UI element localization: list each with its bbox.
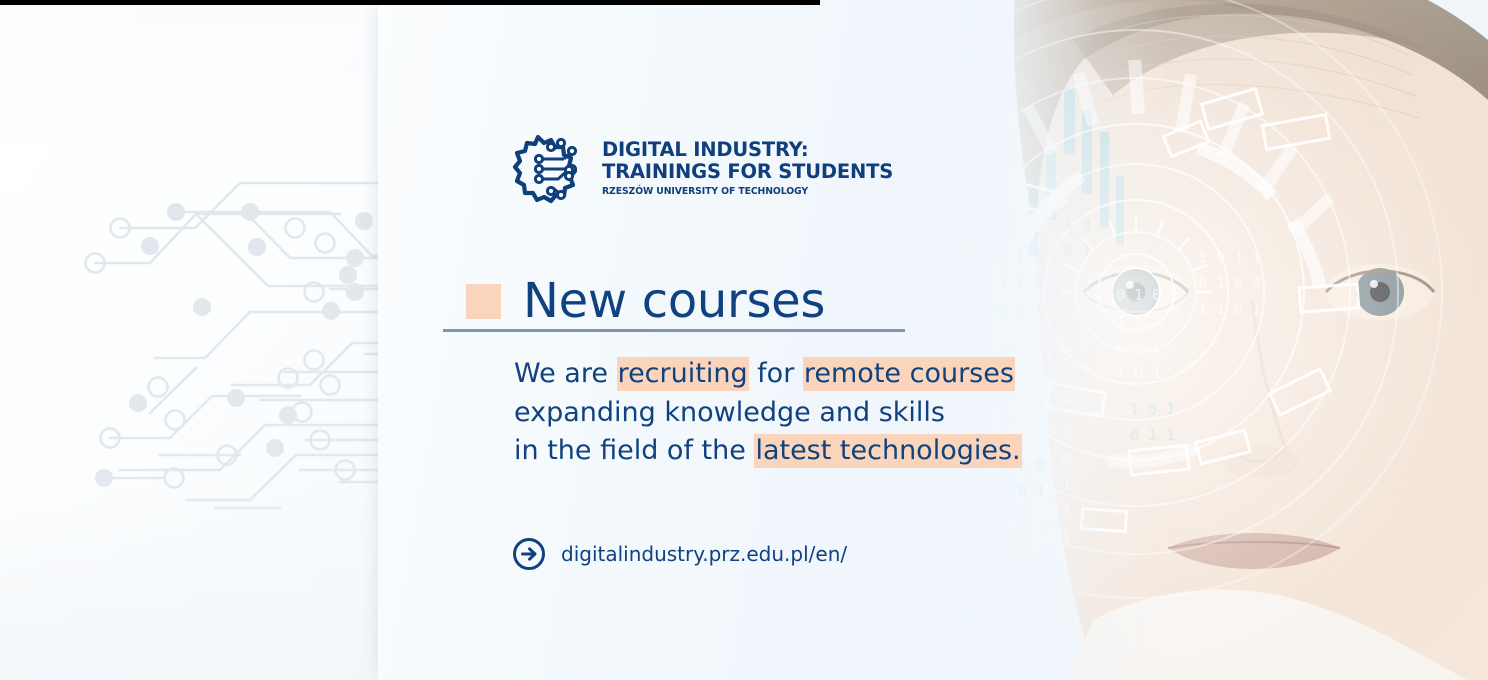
arrow-right-circle-icon[interactable] bbox=[512, 537, 546, 571]
website-link[interactable]: digitalindustry.prz.edu.pl/en/ bbox=[512, 537, 847, 571]
brand-logo: DIGITAL INDUSTRY: TRAININGS FOR STUDENTS… bbox=[508, 132, 893, 204]
highlight-remote-courses: remote courses bbox=[803, 357, 1015, 391]
body-line1-mid: for bbox=[749, 358, 803, 389]
website-url-text[interactable]: digitalindustry.prz.edu.pl/en/ bbox=[561, 542, 847, 566]
body-line1-pre: We are bbox=[514, 358, 617, 389]
gear-circuit-icon bbox=[508, 132, 588, 204]
body-line3-pre: in the field of the bbox=[514, 435, 754, 466]
body-line-1: We are recruiting for remote courses bbox=[514, 355, 1094, 394]
headline-accent-square bbox=[466, 284, 501, 319]
logo-university-name: RZESZÓW UNIVERSITY OF TECHNOLOGY bbox=[602, 187, 893, 196]
page-title: New courses bbox=[523, 277, 825, 325]
logo-line-2: TRAININGS FOR STUDENTS bbox=[602, 162, 893, 182]
title-divider bbox=[443, 329, 905, 332]
body-line-3: in the field of the latest technologies. bbox=[514, 432, 1094, 471]
logo-line-1: DIGITAL INDUSTRY: bbox=[602, 140, 893, 160]
body-copy: We are recruiting for remote courses exp… bbox=[514, 355, 1094, 471]
headline-block: New courses bbox=[466, 277, 825, 325]
highlight-recruiting: recruiting bbox=[617, 357, 749, 391]
top-black-strip bbox=[0, 0, 820, 5]
highlight-latest-technologies: latest technologies. bbox=[754, 434, 1021, 468]
body-line-2: expanding knowledge and skills bbox=[514, 394, 1094, 433]
promotional-banner: 1 0 0 1 00 1 1 0 1 1 1 0 1 00 0 1 1 1 1 … bbox=[0, 0, 1488, 680]
